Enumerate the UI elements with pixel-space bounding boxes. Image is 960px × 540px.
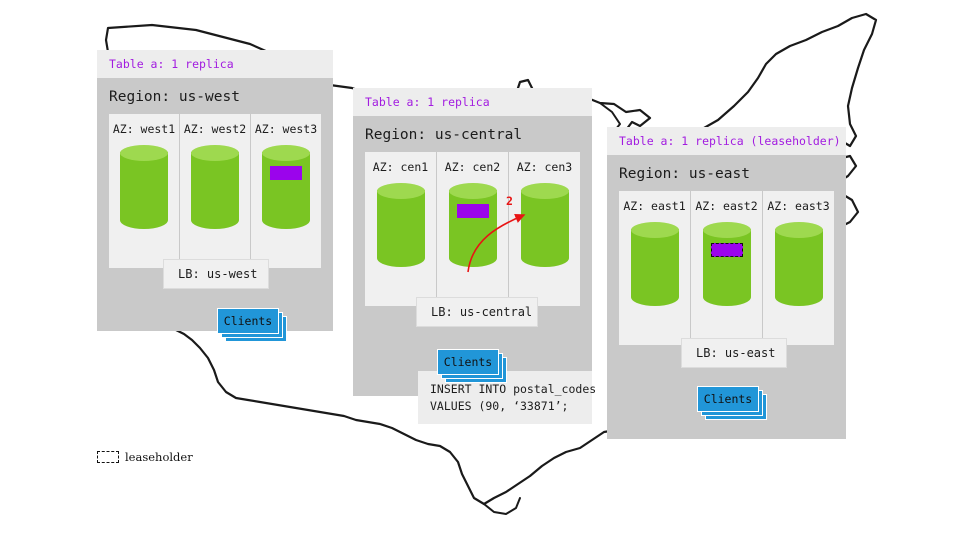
az-cell-west2[interactable]: AZ: west2 — [180, 114, 251, 268]
az-label-cen3: AZ: cen3 — [509, 160, 580, 174]
panel-header-us-west: Table a: 1 replica — [97, 50, 333, 78]
az-label-cen2: AZ: cen2 — [437, 160, 508, 174]
cylinder-body — [262, 152, 310, 220]
cylinder-shape — [191, 145, 239, 229]
diagram-canvas: Table a: 1 replica Region: us-west AZ: w… — [0, 0, 960, 540]
cylinder-body — [120, 152, 168, 220]
cylinder-top — [449, 183, 497, 199]
cylinder-body — [631, 229, 679, 297]
cylinder-body — [191, 152, 239, 220]
clients-stack-us-west[interactable]: Clients — [217, 308, 279, 334]
node-cylinder-east2[interactable] — [703, 222, 751, 306]
cylinder-shape — [521, 183, 569, 267]
cylinder-shape — [703, 222, 751, 306]
cylinder-body — [377, 190, 425, 258]
dashed-rect-icon — [97, 451, 119, 463]
az-cell-east1[interactable]: AZ: east1 — [619, 191, 691, 345]
az-strip-us-east: AZ: east1 AZ: east2 — [619, 191, 834, 345]
region-panel-us-central: Table a: 1 replica Region: us-central AZ… — [353, 88, 592, 396]
clients-label: Clients — [224, 314, 272, 328]
region-box-us-central: Region: us-central AZ: cen1 AZ: cen2 — [353, 116, 592, 396]
az-cell-east3[interactable]: AZ: east3 — [763, 191, 834, 345]
cylinder-top — [631, 222, 679, 238]
cylinder-body — [775, 229, 823, 297]
node-cylinder-cen2[interactable] — [449, 183, 497, 267]
az-cell-west1[interactable]: AZ: west1 — [109, 114, 180, 268]
load-balancer-us-central[interactable]: LB: us-central — [416, 297, 538, 327]
clients-label: Clients — [444, 355, 492, 369]
az-cell-east2[interactable]: AZ: east2 — [691, 191, 763, 345]
load-balancer-us-east[interactable]: LB: us-east — [681, 338, 787, 368]
region-box-us-west: Region: us-west AZ: west1 AZ: west2 — [97, 78, 333, 331]
legend-leaseholder: leaseholder — [97, 450, 193, 464]
region-title-us-central: Region: us-central — [353, 116, 592, 152]
cylinder-top — [377, 183, 425, 199]
region-box-us-east: Region: us-east AZ: east1 AZ: east2 — [607, 155, 846, 439]
arrow-step-label-2: 2 — [506, 194, 513, 208]
clients-sheet-front[interactable]: Clients — [697, 386, 759, 412]
panel-header-us-central: Table a: 1 replica — [353, 88, 592, 116]
az-label-west1: AZ: west1 — [109, 122, 179, 136]
az-label-west3: AZ: west3 — [251, 122, 321, 136]
az-cell-west3[interactable]: AZ: west3 — [251, 114, 321, 268]
az-strip-us-central: AZ: cen1 AZ: cen2 — [365, 152, 580, 306]
cylinder-shape — [631, 222, 679, 306]
cylinder-top — [703, 222, 751, 238]
region-title-us-west: Region: us-west — [97, 78, 333, 114]
replica-marker-west3[interactable] — [270, 166, 302, 180]
clients-sheet-front[interactable]: Clients — [217, 308, 279, 334]
node-cylinder-cen3[interactable] — [521, 183, 569, 267]
node-cylinder-west2[interactable] — [191, 145, 239, 229]
replica-marker-cen2[interactable] — [457, 204, 489, 218]
az-label-east3: AZ: east3 — [763, 199, 834, 213]
clients-label: Clients — [704, 392, 752, 406]
panel-header-us-east: Table a: 1 replica (leaseholder) — [607, 127, 846, 155]
az-label-east1: AZ: east1 — [619, 199, 690, 213]
cylinder-body — [449, 190, 497, 258]
cylinder-top — [191, 145, 239, 161]
load-balancer-us-west[interactable]: LB: us-west — [163, 259, 269, 289]
az-label-east2: AZ: east2 — [691, 199, 762, 213]
region-panel-us-east: Table a: 1 replica (leaseholder) Region:… — [607, 127, 846, 439]
node-cylinder-west3[interactable] — [262, 145, 310, 229]
replica-marker-east2-leaseholder[interactable] — [711, 243, 743, 257]
cylinder-shape — [377, 183, 425, 267]
az-cell-cen2[interactable]: AZ: cen2 — [437, 152, 509, 306]
cylinder-top — [262, 145, 310, 161]
clients-sheet-front[interactable]: Clients — [437, 349, 499, 375]
cylinder-top — [120, 145, 168, 161]
node-cylinder-cen1[interactable] — [377, 183, 425, 267]
region-panel-us-west: Table a: 1 replica Region: us-west AZ: w… — [97, 50, 333, 331]
az-cell-cen3[interactable]: AZ: cen3 — [509, 152, 580, 306]
az-label-cen1: AZ: cen1 — [365, 160, 436, 174]
cylinder-top — [521, 183, 569, 199]
cylinder-body — [521, 190, 569, 258]
az-strip-us-west: AZ: west1 AZ: west2 — [109, 114, 321, 268]
clients-stack-us-central[interactable]: Clients — [437, 349, 499, 375]
node-cylinder-east1[interactable] — [631, 222, 679, 306]
cylinder-top — [775, 222, 823, 238]
cylinder-shape — [262, 145, 310, 229]
node-cylinder-east3[interactable] — [775, 222, 823, 306]
az-label-west2: AZ: west2 — [180, 122, 250, 136]
az-cell-cen1[interactable]: AZ: cen1 — [365, 152, 437, 306]
cylinder-shape — [449, 183, 497, 267]
legend-label: leaseholder — [125, 450, 193, 464]
clients-stack-us-east[interactable]: Clients — [697, 386, 759, 412]
cylinder-shape — [120, 145, 168, 229]
region-title-us-east: Region: us-east — [607, 155, 846, 191]
cylinder-shape — [775, 222, 823, 306]
cylinder-body — [703, 229, 751, 297]
node-cylinder-west1[interactable] — [120, 145, 168, 229]
